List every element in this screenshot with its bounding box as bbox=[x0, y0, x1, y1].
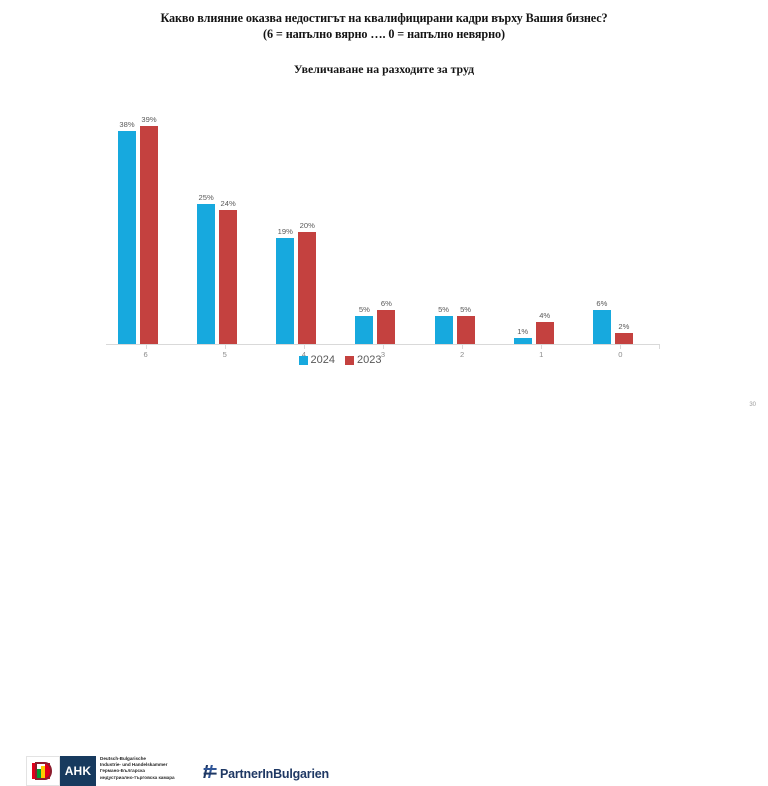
partner-in-bulgarien-logo: PartnerInBulgarien bbox=[203, 764, 329, 784]
ahk-b-mark-icon bbox=[26, 756, 60, 786]
bar-2024-0: 6% bbox=[593, 310, 611, 344]
bar-group: 5%6% bbox=[343, 92, 422, 344]
x-axis-tick-mark bbox=[383, 345, 384, 349]
bar-value-label: 5% bbox=[359, 305, 370, 314]
bar-value-label: 6% bbox=[381, 299, 392, 308]
ahk-logo: AHK bbox=[26, 756, 96, 786]
ahk-b-mark-svg bbox=[27, 757, 59, 785]
legend-item-2023[interactable]: 2023 bbox=[345, 354, 381, 366]
bar-2024-5: 25% bbox=[197, 204, 215, 344]
bar-value-label: 2% bbox=[618, 322, 629, 331]
bar-group: 25%24% bbox=[185, 92, 264, 344]
chart-legend: 20242023 bbox=[20, 354, 660, 366]
page-title-line-2: (6 = напълно вярно …. 0 = напълно невярн… bbox=[0, 26, 768, 42]
legend-item-2024[interactable]: 2024 bbox=[299, 354, 335, 366]
bar-2023-1: 4% bbox=[536, 322, 554, 344]
partner-in-bulgarien-label: PartnerInBulgarien bbox=[220, 767, 329, 781]
bar-group: 5%5% bbox=[423, 92, 502, 344]
bar-2024-2: 5% bbox=[435, 316, 453, 344]
bar-2024-6: 38% bbox=[118, 131, 136, 344]
ahk-badge-label: AHK bbox=[60, 756, 96, 786]
hash-grid-icon bbox=[203, 764, 218, 784]
bar-value-label: 19% bbox=[278, 227, 293, 236]
page-title: Какво влияние оказва недостигът на квали… bbox=[0, 10, 768, 42]
bar-2023-5: 24% bbox=[219, 210, 237, 344]
bar-2023-0: 2% bbox=[615, 333, 633, 344]
bar-chart: 38%39%625%24%519%20%45%6%35%5%21%4%16%2%… bbox=[20, 92, 660, 360]
legend-swatch-icon bbox=[299, 356, 308, 365]
chart-plot-area: 38%39%625%24%519%20%45%6%35%5%21%4%16%2%… bbox=[106, 92, 660, 344]
x-axis-tick-mark bbox=[620, 345, 621, 349]
bar-value-label: 6% bbox=[596, 299, 607, 308]
bar-2024-3: 5% bbox=[355, 316, 373, 344]
bar-2024-1: 1% bbox=[514, 338, 532, 344]
ahk-caption-line-4: индустриално-търговска камара bbox=[100, 775, 210, 781]
bar-group: 19%20% bbox=[264, 92, 343, 344]
chart-subtitle: Увеличаване на разходите за труд bbox=[0, 62, 768, 77]
hash-grid-svg bbox=[203, 764, 218, 779]
x-axis-tick-mark bbox=[659, 345, 660, 349]
bar-value-label: 39% bbox=[141, 115, 156, 124]
bar-value-label: 5% bbox=[438, 305, 449, 314]
bar-value-label: 1% bbox=[517, 327, 528, 336]
bar-group: 38%39% bbox=[106, 92, 185, 344]
bar-group: 1%4% bbox=[502, 92, 581, 344]
bar-2023-4: 20% bbox=[298, 232, 316, 344]
bar-2023-3: 6% bbox=[377, 310, 395, 344]
x-axis-tick-mark bbox=[225, 345, 226, 349]
bar-group: 6%2% bbox=[581, 92, 660, 344]
bar-value-label: 5% bbox=[460, 305, 471, 314]
bar-2023-2: 5% bbox=[457, 316, 475, 344]
legend-swatch-icon bbox=[345, 356, 354, 365]
page-title-line-1: Какво влияние оказва недостигът на квали… bbox=[160, 11, 607, 25]
ahk-caption: Deutsch-Bulgarische Industrie- und Hande… bbox=[100, 756, 210, 781]
x-axis-tick-mark bbox=[541, 345, 542, 349]
bar-2024-4: 19% bbox=[276, 238, 294, 344]
slide-footer: AHK Deutsch-Bulgarische Industrie- und H… bbox=[0, 376, 768, 432]
bar-value-label: 24% bbox=[221, 199, 236, 208]
bar-value-label: 4% bbox=[539, 311, 550, 320]
x-axis-tick-mark bbox=[146, 345, 147, 349]
x-axis-tick-mark bbox=[462, 345, 463, 349]
x-axis-tick-mark bbox=[304, 345, 305, 349]
legend-label: 2024 bbox=[311, 354, 335, 366]
legend-label: 2023 bbox=[357, 354, 381, 366]
bar-value-label: 38% bbox=[119, 120, 134, 129]
bar-value-label: 20% bbox=[300, 221, 315, 230]
bar-2023-6: 39% bbox=[140, 126, 158, 344]
page-number: 30 bbox=[749, 402, 756, 408]
bar-value-label: 25% bbox=[199, 193, 214, 202]
